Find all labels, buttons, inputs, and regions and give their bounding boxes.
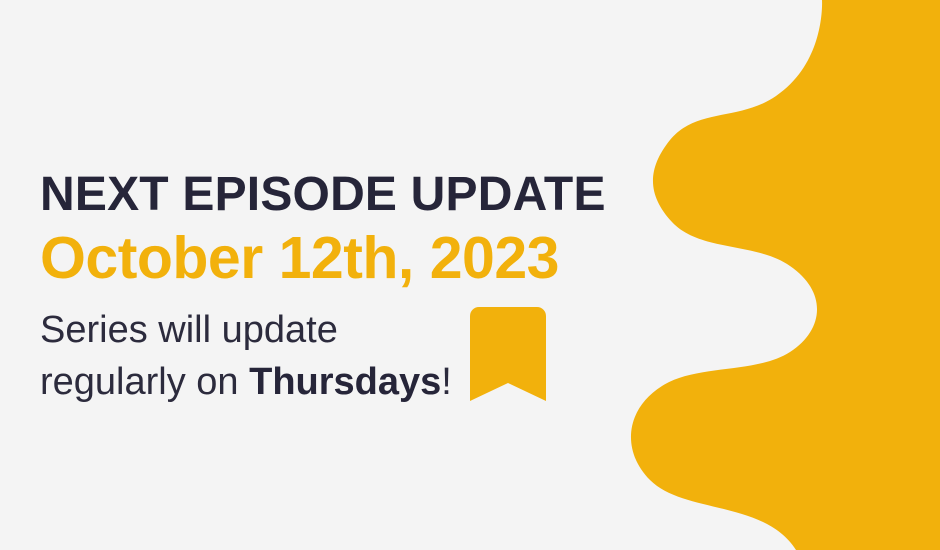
schedule-note-line1: Series will update xyxy=(40,309,338,351)
episode-date: October 12th, 2023 xyxy=(40,226,680,290)
page-title: NEXT EPISODE UPDATE xyxy=(40,168,680,222)
bookmark-icon xyxy=(470,307,546,402)
schedule-note: Series will updateregularly on Thursdays… xyxy=(40,304,452,408)
subtext-row: Series will updateregularly on Thursdays… xyxy=(40,304,680,408)
schedule-note-day: Thursdays xyxy=(249,361,441,403)
next-episode-update-banner: NEXT EPISODE UPDATE October 12th, 2023 S… xyxy=(0,0,940,550)
schedule-note-line2-suffix: ! xyxy=(441,361,452,403)
text-block: NEXT EPISODE UPDATE October 12th, 2023 S… xyxy=(40,168,680,408)
schedule-note-line2-prefix: regularly on xyxy=(40,361,249,403)
